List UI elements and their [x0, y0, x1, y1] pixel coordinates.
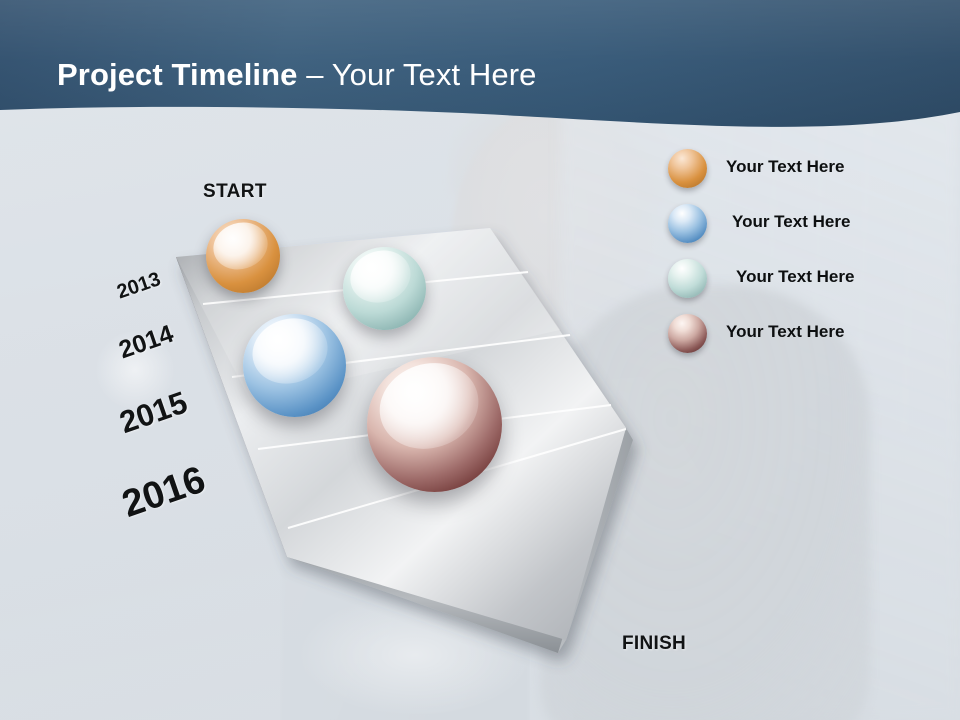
legend-bullet-blue-icon — [668, 204, 707, 243]
start-label: START — [203, 181, 267, 203]
lens-glow-bottom — [300, 595, 530, 715]
page-title-light: – Your Text Here — [306, 57, 536, 92]
page-title: Project Timeline – Your Text Here — [57, 57, 536, 93]
legend-item-3[interactable]: Your Text Here — [668, 307, 958, 362]
legend-label-3: Your Text Here — [726, 322, 844, 342]
legend-bullet-orange-icon — [668, 149, 707, 188]
legend-label-0: Your Text Here — [726, 157, 844, 177]
milestone-sphere-teal[interactable] — [343, 247, 426, 330]
milestone-sphere-maroon[interactable] — [367, 357, 502, 492]
milestone-sphere-blue[interactable] — [243, 314, 346, 417]
legend-label-2: Your Text Here — [736, 267, 854, 287]
legend: Your Text Here Your Text Here Your Text … — [668, 142, 958, 362]
legend-item-1[interactable]: Your Text Here — [668, 197, 958, 252]
milestone-sphere-orange[interactable] — [206, 219, 280, 293]
finish-label: FINISH — [622, 633, 686, 655]
legend-label-1: Your Text Here — [732, 212, 850, 232]
legend-item-2[interactable]: Your Text Here — [668, 252, 958, 307]
legend-bullet-maroon-icon — [668, 314, 707, 353]
slide-canvas: Project Timeline – Your Text Here — [0, 0, 960, 720]
legend-item-0[interactable]: Your Text Here — [668, 142, 958, 197]
page-title-bold: Project Timeline — [57, 57, 298, 92]
legend-bullet-teal-icon — [668, 259, 707, 298]
